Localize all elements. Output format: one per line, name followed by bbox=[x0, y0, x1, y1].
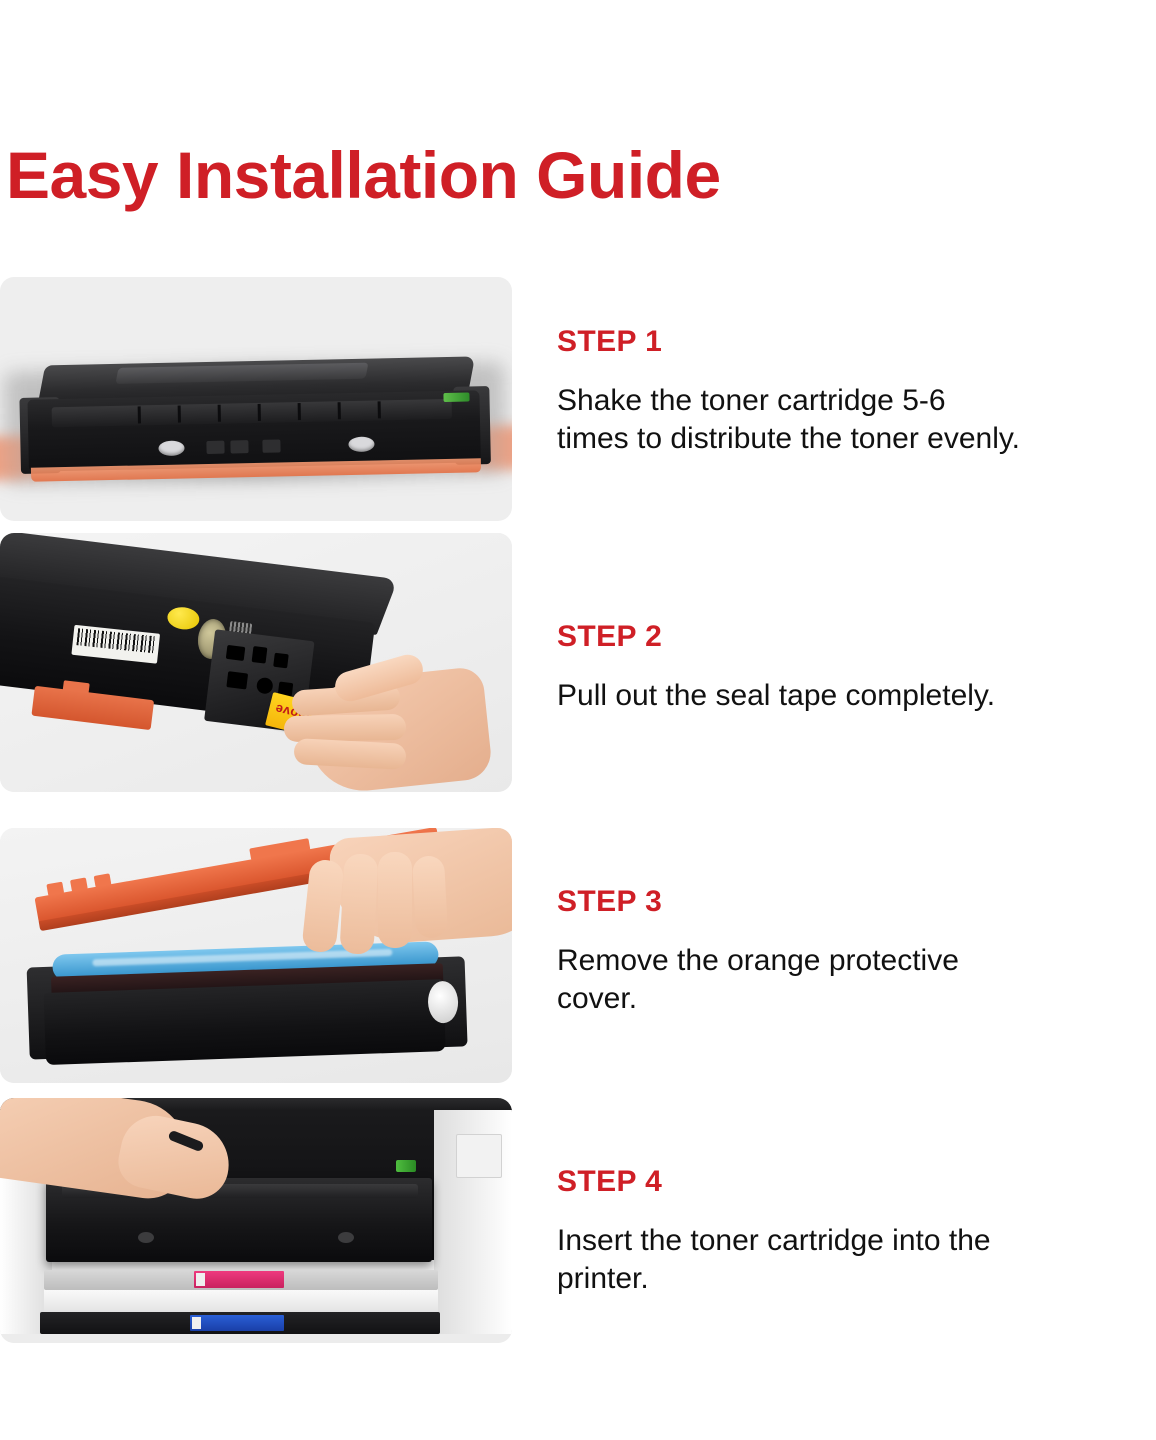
step-3-description: Remove the orange protective cover. bbox=[557, 942, 1156, 1019]
step-4-image bbox=[0, 1098, 512, 1343]
step-4-label: STEP 4 bbox=[557, 1167, 1156, 1197]
hand-illustration bbox=[278, 661, 488, 791]
hand-finger bbox=[378, 852, 412, 948]
cartridge-chip-contact bbox=[443, 393, 469, 403]
step-3-text-block: STEP 3 Remove the orange protective cove… bbox=[557, 887, 1156, 1019]
step-1-image bbox=[0, 277, 512, 521]
cartridge-symbol-mark bbox=[230, 440, 248, 453]
cartridge-symbol-mark bbox=[262, 439, 280, 452]
magenta-cartridge-slot bbox=[44, 1270, 438, 1290]
step-3-image bbox=[0, 828, 512, 1083]
cartridge-symbol-mark bbox=[206, 441, 224, 454]
step-2-label: STEP 2 bbox=[557, 622, 1156, 652]
cartridge-vent-rib bbox=[178, 406, 181, 423]
step-3-label: STEP 3 bbox=[557, 887, 1156, 917]
hand-illustration bbox=[0, 1098, 270, 1222]
toner-cartridge-illustration bbox=[17, 352, 494, 494]
cartridge-vent-rib bbox=[218, 405, 221, 422]
step-1-text-block: STEP 1 Shake the toner cartridge 5-6 tim… bbox=[557, 327, 1156, 459]
cyan-cartridge-slot bbox=[40, 1312, 440, 1334]
page-title: Easy Installation Guide bbox=[6, 142, 721, 208]
step-1-label: STEP 1 bbox=[557, 327, 1156, 357]
step-1-description: Shake the toner cartridge 5-6 times to d… bbox=[557, 382, 1156, 459]
cyan-cartridge-label bbox=[190, 1315, 284, 1331]
cartridge-front-face bbox=[43, 979, 445, 1065]
installation-guide-page: Easy Installation Guide bbox=[0, 0, 1156, 1440]
step-2-image: Remove bbox=[0, 533, 512, 792]
cartridge-vent-rib bbox=[138, 406, 141, 423]
cartridge-handle-hole bbox=[338, 1232, 354, 1243]
cartridge-handle-hole bbox=[138, 1232, 154, 1243]
cartridge-vent-rib bbox=[298, 403, 301, 420]
cartridge-vent-rib bbox=[378, 401, 381, 418]
step-2-text-block: STEP 2 Pull out the seal tape completely… bbox=[557, 622, 1156, 715]
step-2-description: Pull out the seal tape completely. bbox=[557, 677, 1156, 715]
step-4-text-block: STEP 4 Insert the toner cartridge into t… bbox=[557, 1167, 1156, 1299]
barcode-icon bbox=[76, 628, 155, 653]
printer-side-panel bbox=[456, 1134, 502, 1178]
step-4-description: Insert the toner cartridge into the prin… bbox=[557, 1222, 1156, 1299]
hand-finger bbox=[412, 855, 448, 939]
hand-finger bbox=[284, 714, 406, 742]
printer-tray bbox=[44, 1288, 438, 1314]
cartridge-vent-rib bbox=[338, 402, 341, 419]
hand-finger bbox=[339, 853, 378, 955]
cartridge-chip-contact bbox=[396, 1160, 416, 1172]
magenta-cartridge-label bbox=[194, 1271, 284, 1288]
hand-illustration bbox=[292, 832, 512, 972]
hand-finger bbox=[293, 738, 406, 770]
hand-finger bbox=[301, 858, 344, 953]
cartridge-vent-rib bbox=[258, 404, 261, 421]
